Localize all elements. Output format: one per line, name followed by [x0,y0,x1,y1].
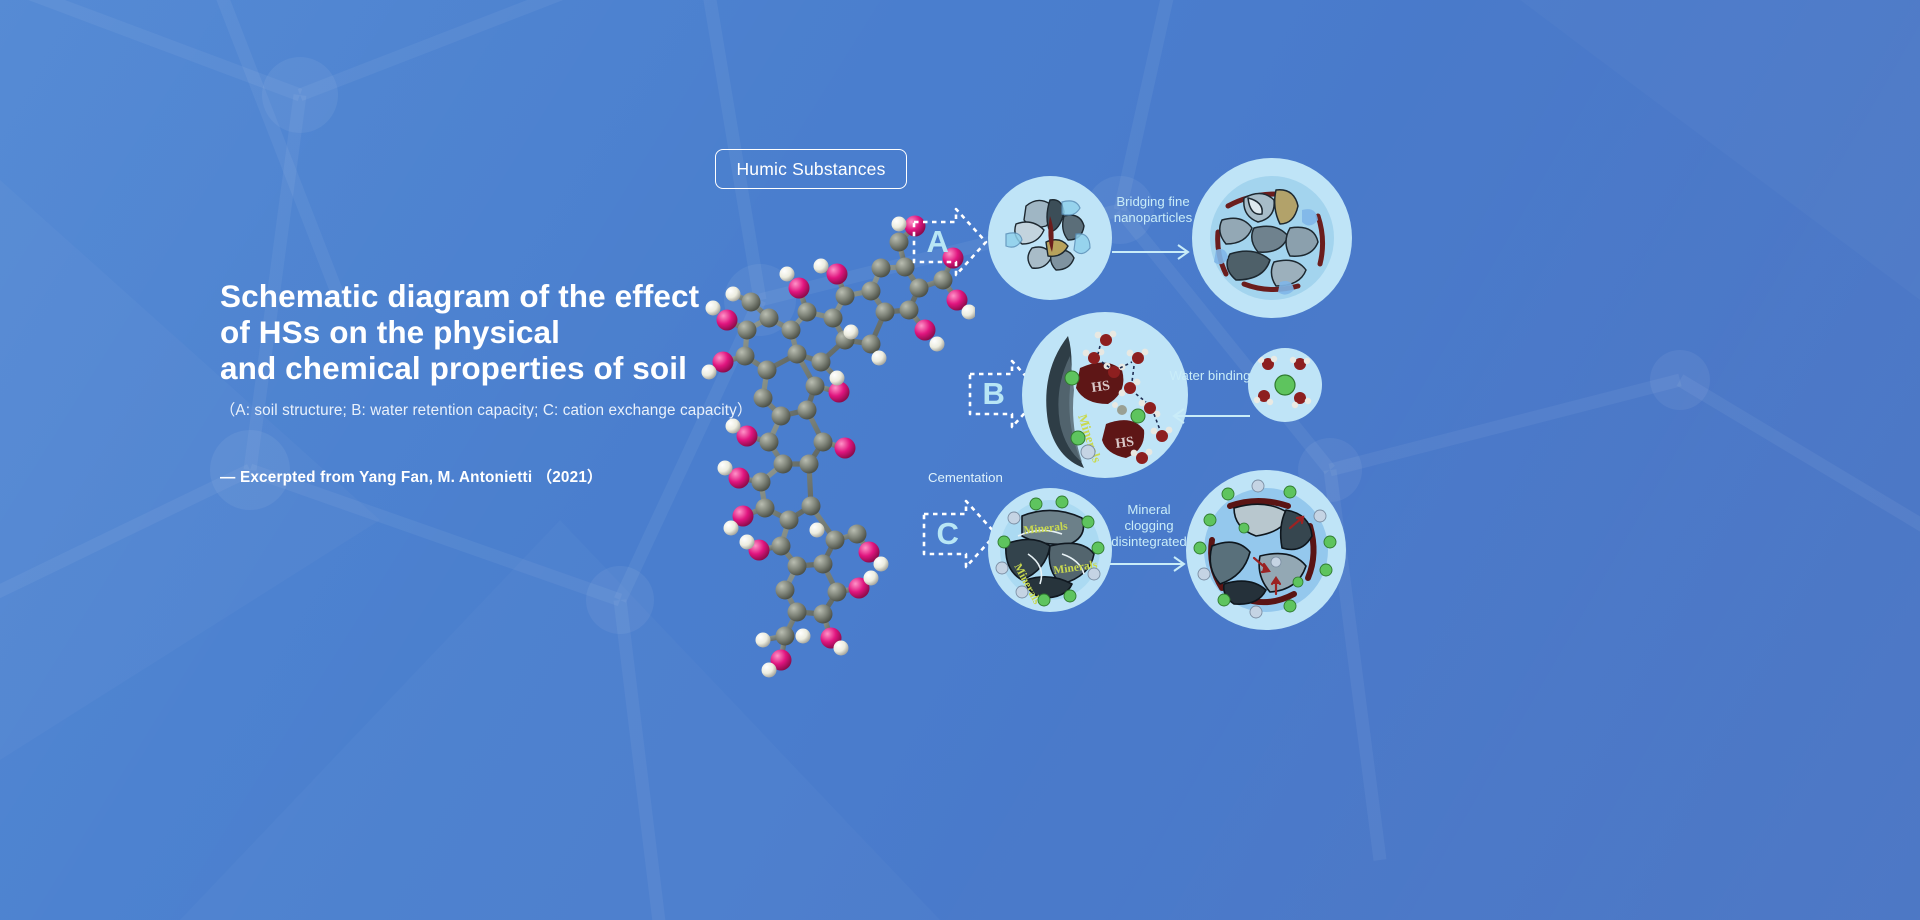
bubble-humic-substance-water-shell: Minerals HS HS [1022,312,1188,478]
cementation-label: Cementation [928,470,1003,485]
step-arrow-c-letter: C [926,498,970,570]
hs-label-2: HS [1114,434,1135,451]
connector-b: Water binding [1168,368,1252,430]
connector-a: Bridging fine nanoparticles [1110,194,1196,266]
humic-substances-badge-label: Humic Substances [736,159,885,180]
humic-substances-badge[interactable]: Humic Substances [715,149,907,189]
bubble-aggregated-soil-particles [1192,158,1352,318]
step-arrow-c[interactable]: C [922,498,998,570]
connector-c: Mineral clogging disintegrated [1108,502,1190,578]
hs-label-1: HS [1090,378,1111,395]
step-arrow-a-letter: A [916,206,960,278]
diagram-area: Humic Substances [690,120,1920,800]
bubble-hydrated-cation-water-cluster [1248,348,1322,422]
poster-canvas: Schematic diagram of the effect of HSs o… [0,0,1920,920]
bubble-cemented-mineral-cations: Minerals Minerals Minerals [988,488,1112,612]
bubble-loose-mineral-fragments [988,176,1112,300]
step-arrow-a[interactable]: A [912,206,988,278]
step-arrow-b-letter: B [972,358,1016,430]
bubble-disintegrated-mineral-clogging [1186,470,1346,630]
